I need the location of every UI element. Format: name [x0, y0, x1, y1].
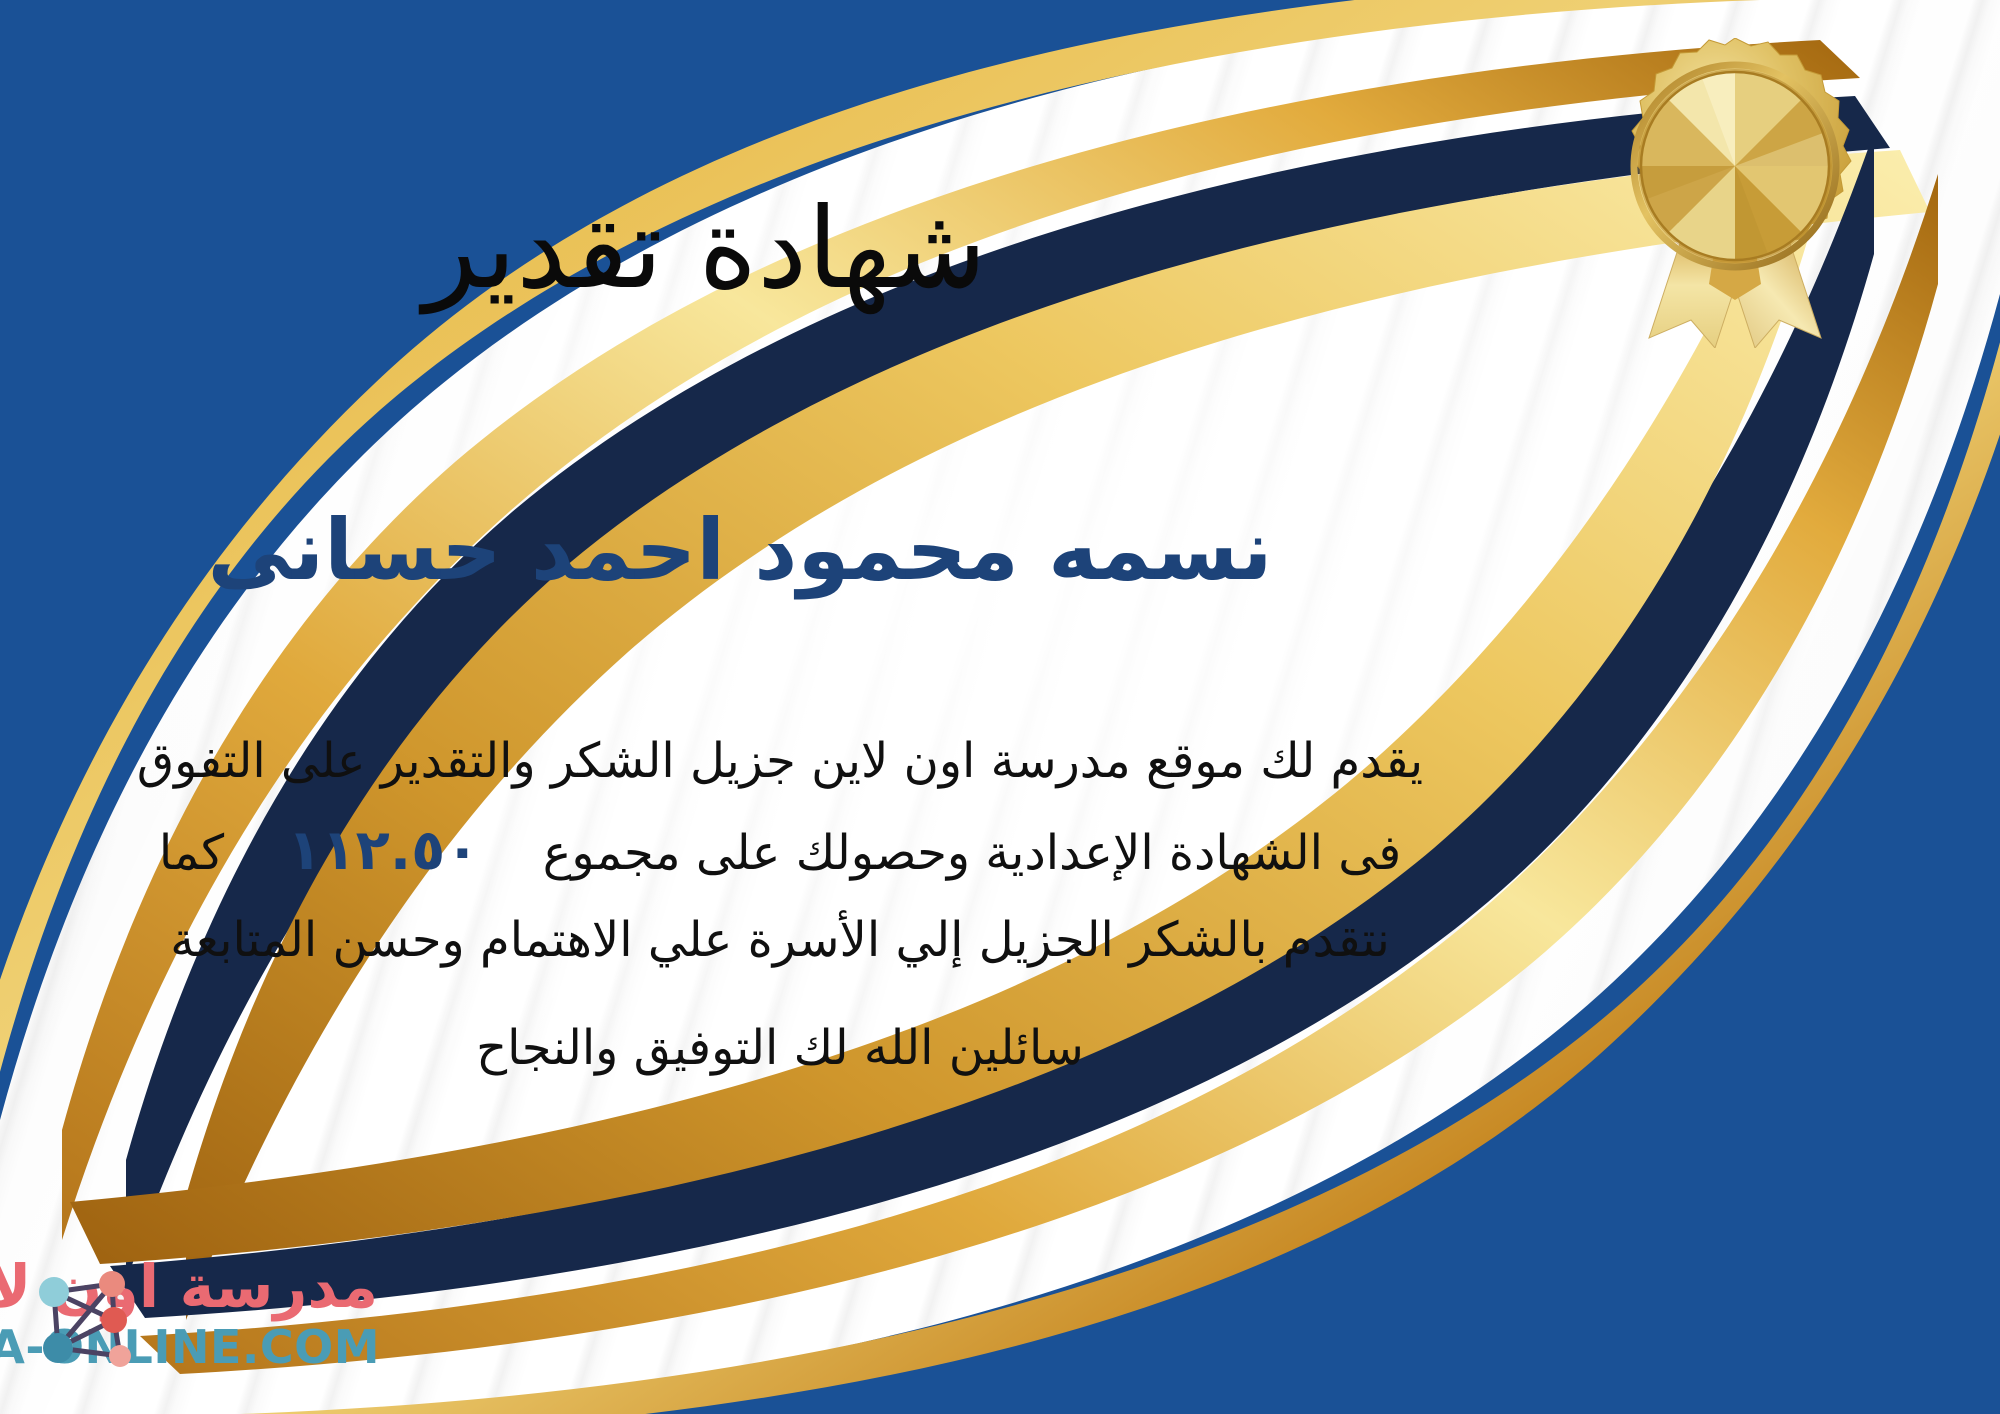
closing-wish: سائلين الله لك التوفيق والنجاح	[30, 1020, 1530, 1076]
certificate-title: شهادة تقدير	[0, 187, 1410, 312]
gold-medal-seal-icon	[1603, 38, 1867, 348]
grade-value: ١١٢.٥٠	[239, 818, 527, 883]
certificate-page: شهادة تقدير نسمه محمود احمد حسانى يقدم ل…	[0, 0, 2000, 1414]
recipient-name: نسمه محمود احمد حسانى	[0, 500, 1480, 601]
body-line-1: يقدم لك موقع مدرسة اون لاين جزيل الشكر و…	[30, 720, 1530, 803]
body-line-2-suffix: كما	[159, 825, 224, 881]
network-nodes-icon	[28, 1258, 140, 1378]
body-line-2: فى الشهادة الإعدادية وحصولك على مجموع ١١…	[30, 803, 1530, 899]
body-line-3: نتقدم بالشكر الجزيل إلي الأسرة علي الاهت…	[30, 899, 1530, 982]
certificate-content: شهادة تقدير نسمه محمود احمد حسانى يقدم ل…	[0, 0, 2000, 1414]
certificate-body: يقدم لك موقع مدرسة اون لاين جزيل الشكر و…	[30, 720, 1530, 981]
body-line-2-prefix: فى الشهادة الإعدادية وحصولك على مجموع	[543, 825, 1401, 881]
brand-logo[interactable]: مدرسة اون لاين MADRSA-ONLINE.COM	[28, 1252, 498, 1384]
